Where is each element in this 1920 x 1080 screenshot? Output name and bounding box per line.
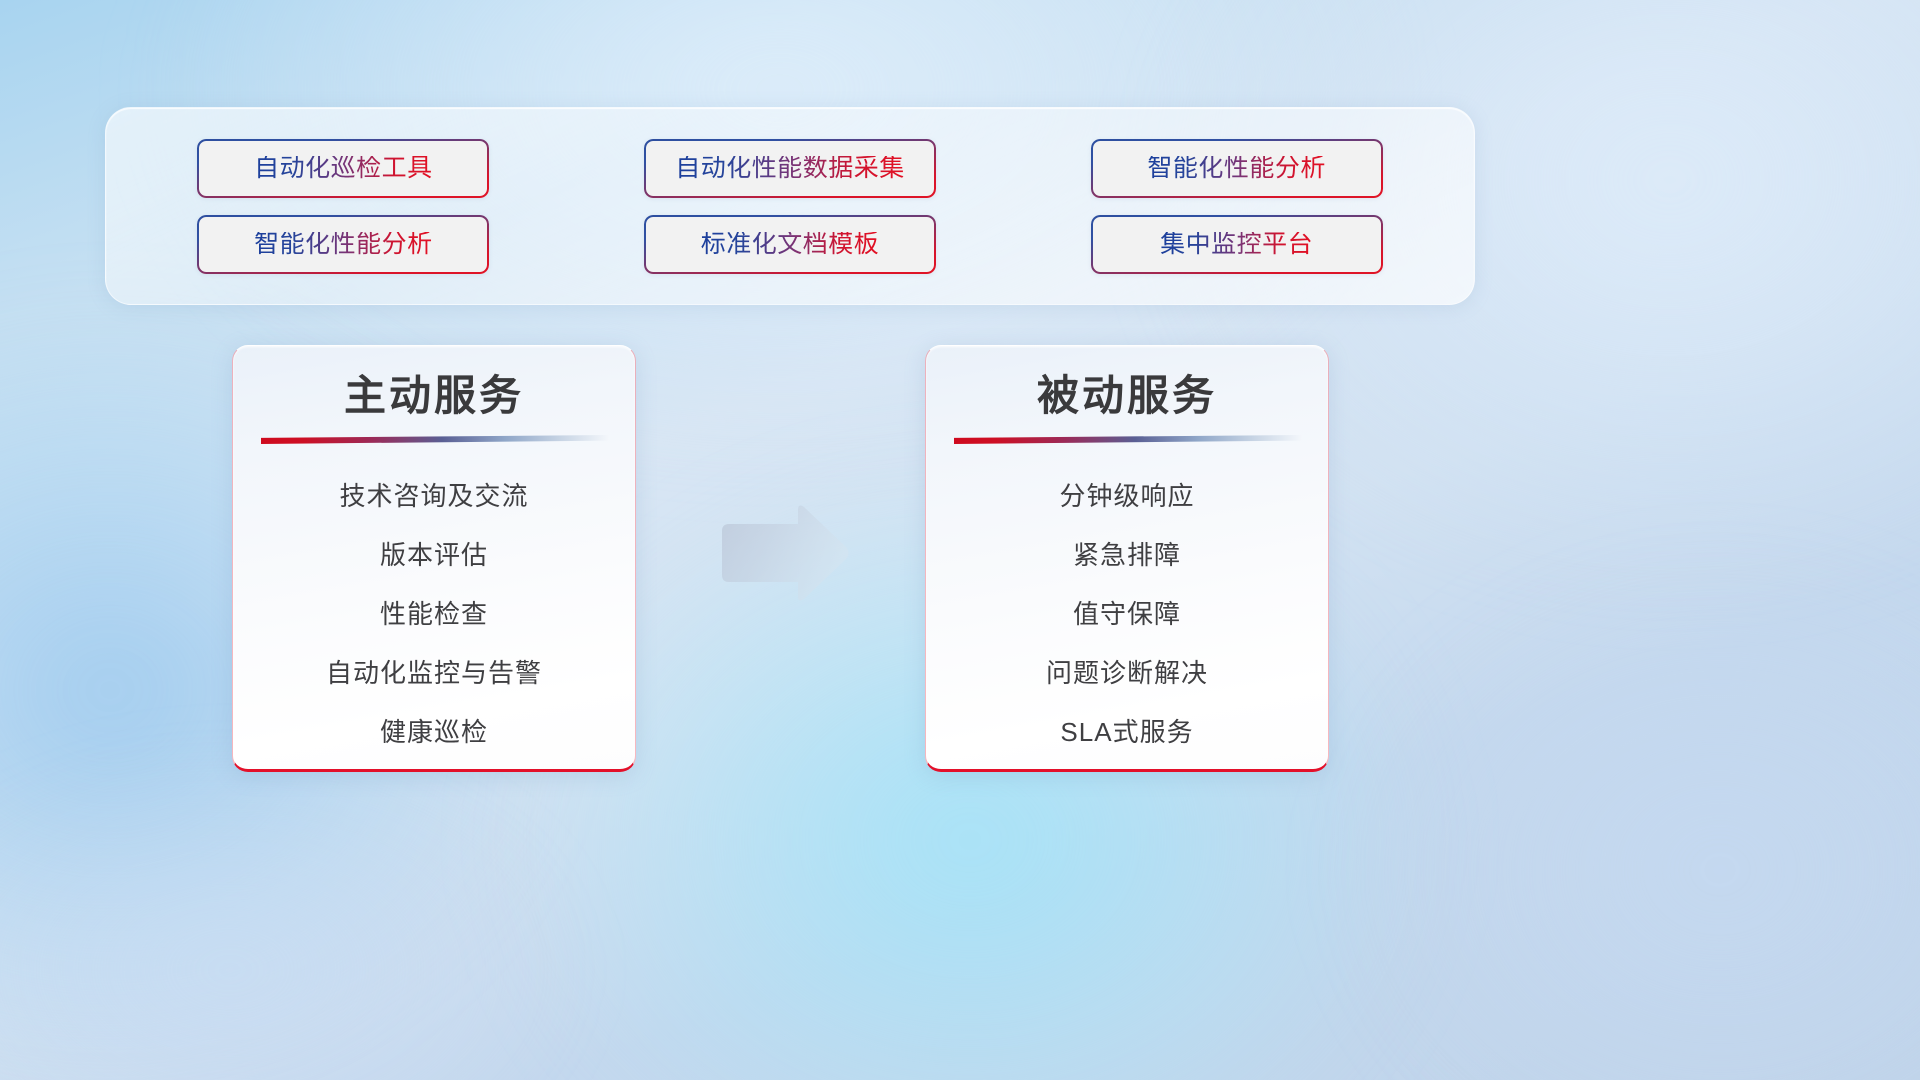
card-divider [954, 435, 1302, 444]
capability-panel: 自动化巡检工具 自动化性能数据采集 智能化性能分析 智能化性能分析 标准化文档模… [105, 107, 1475, 305]
arrow-right-icon [718, 503, 850, 603]
card-item-list: 分钟级响应 紧急排障 值守保障 问题诊断解决 SLA式服务 [926, 466, 1328, 761]
capability-chip-label: 智能化性能分析 [254, 232, 433, 257]
capability-chip-label: 智能化性能分析 [1147, 156, 1326, 181]
capability-chip-4[interactable]: 标准化文档模板 [644, 215, 936, 274]
capability-chip-1[interactable]: 自动化性能数据采集 [644, 139, 936, 198]
capability-chip-label: 自动化性能数据采集 [675, 156, 905, 181]
capability-chip-grid: 自动化巡检工具 自动化性能数据采集 智能化性能分析 智能化性能分析 标准化文档模… [106, 108, 1474, 304]
capability-chip-label: 自动化巡检工具 [254, 156, 433, 181]
card-divider [261, 435, 609, 444]
card-list-item: 性能检查 [380, 584, 488, 643]
card-list-item: 自动化监控与告警 [326, 643, 542, 702]
capability-chip-label: 集中监控平台 [1160, 232, 1313, 257]
card-list-item: 值守保障 [1073, 584, 1181, 643]
card-list-item: 问题诊断解决 [1046, 643, 1208, 702]
service-card-passive: 被动服务 分钟级响应 紧急排障 值守保障 问题诊断解决 SLA式服务 [925, 345, 1329, 772]
card-title: 被动服务 [926, 372, 1328, 420]
card-list-item: 技术咨询及交流 [339, 466, 528, 525]
card-list-item: 分钟级响应 [1059, 466, 1194, 525]
card-item-list: 技术咨询及交流 版本评估 性能检查 自动化监控与告警 健康巡检 [233, 466, 635, 761]
card-list-item: SLA式服务 [1060, 702, 1193, 761]
capability-chip-2[interactable]: 智能化性能分析 [1091, 139, 1383, 198]
slide-canvas: 自动化巡检工具 自动化性能数据采集 智能化性能分析 智能化性能分析 标准化文档模… [0, 0, 1920, 1080]
background-glow-right [1340, 560, 1920, 1080]
card-title: 主动服务 [233, 372, 635, 420]
card-list-item: 健康巡检 [380, 702, 488, 761]
card-list-item: 紧急排障 [1073, 525, 1181, 584]
capability-chip-label: 标准化文档模板 [701, 232, 880, 257]
capability-chip-3[interactable]: 智能化性能分析 [197, 215, 489, 274]
service-card-active: 主动服务 技术咨询及交流 版本评估 性能检查 自动化监控与告警 健康巡检 [232, 345, 636, 772]
card-list-item: 版本评估 [380, 525, 488, 584]
capability-chip-5[interactable]: 集中监控平台 [1091, 215, 1383, 274]
capability-chip-0[interactable]: 自动化巡检工具 [197, 139, 489, 198]
background-glow-bottom-left [0, 760, 580, 1080]
